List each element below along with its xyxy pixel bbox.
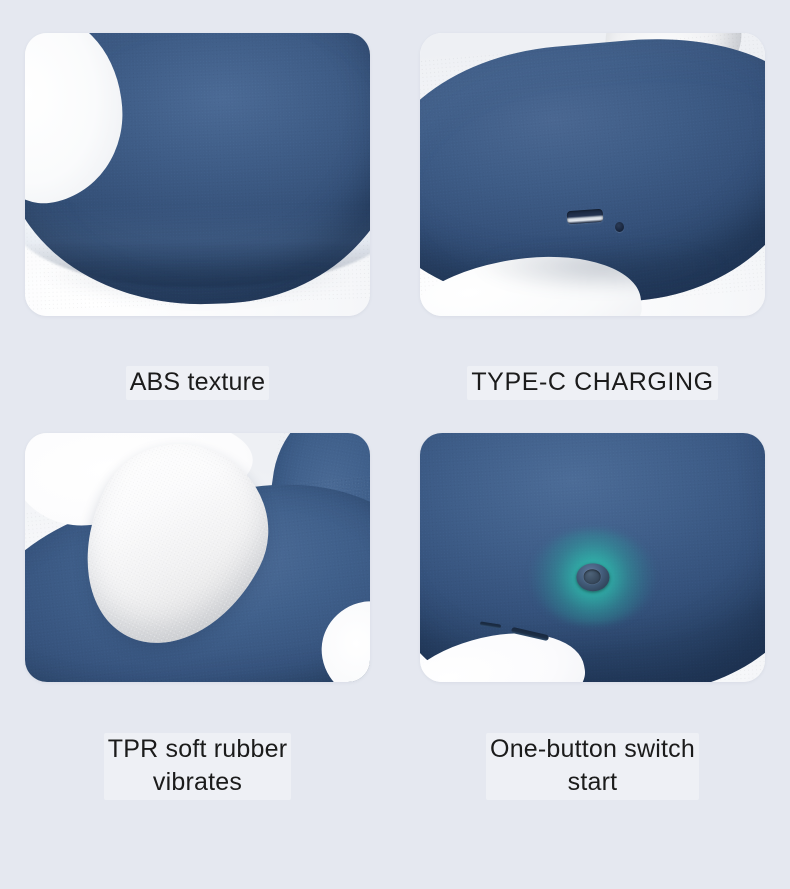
contact-shadow [25,270,370,315]
feature-cell-abs-texture: ABS texture [0,0,395,400]
caption-text: ABS texture [126,366,270,400]
caption-text: TYPE-C CHARGING [467,366,717,400]
usb-type-c-port [566,208,603,223]
feature-image-tpr-soft-rubber[interactable] [25,433,370,682]
feature-cell-one-button-switch: One-button switch start [395,400,790,800]
feature-grid: ABS texture TYPE-C CHARGING [0,0,790,889]
power-button-icon[interactable] [583,570,601,585]
feature-image-type-c-charging[interactable] [420,33,765,316]
product-photo-one-button-switch [420,433,765,682]
feature-caption-abs-texture: ABS texture [0,316,395,401]
contact-shadow [455,248,748,310]
product-photo-tpr-soft-rubber [25,433,370,682]
feature-image-one-button-switch[interactable] [420,433,765,682]
feature-image-abs-texture[interactable] [25,33,370,316]
product-photo-abs-texture [25,33,370,316]
feature-caption-type-c-charging: TYPE-C CHARGING [395,316,790,401]
feature-caption-tpr-soft-rubber: TPR soft rubber vibrates [0,682,395,800]
caption-text: One-button switch start [486,733,699,801]
feature-cell-tpr-soft-rubber: TPR soft rubber vibrates [0,400,395,800]
caption-text: TPR soft rubber vibrates [104,733,291,801]
feature-caption-one-button-switch: One-button switch start [395,682,790,800]
feature-cell-type-c-charging: TYPE-C CHARGING [395,0,790,400]
product-photo-type-c-charging [420,33,765,316]
